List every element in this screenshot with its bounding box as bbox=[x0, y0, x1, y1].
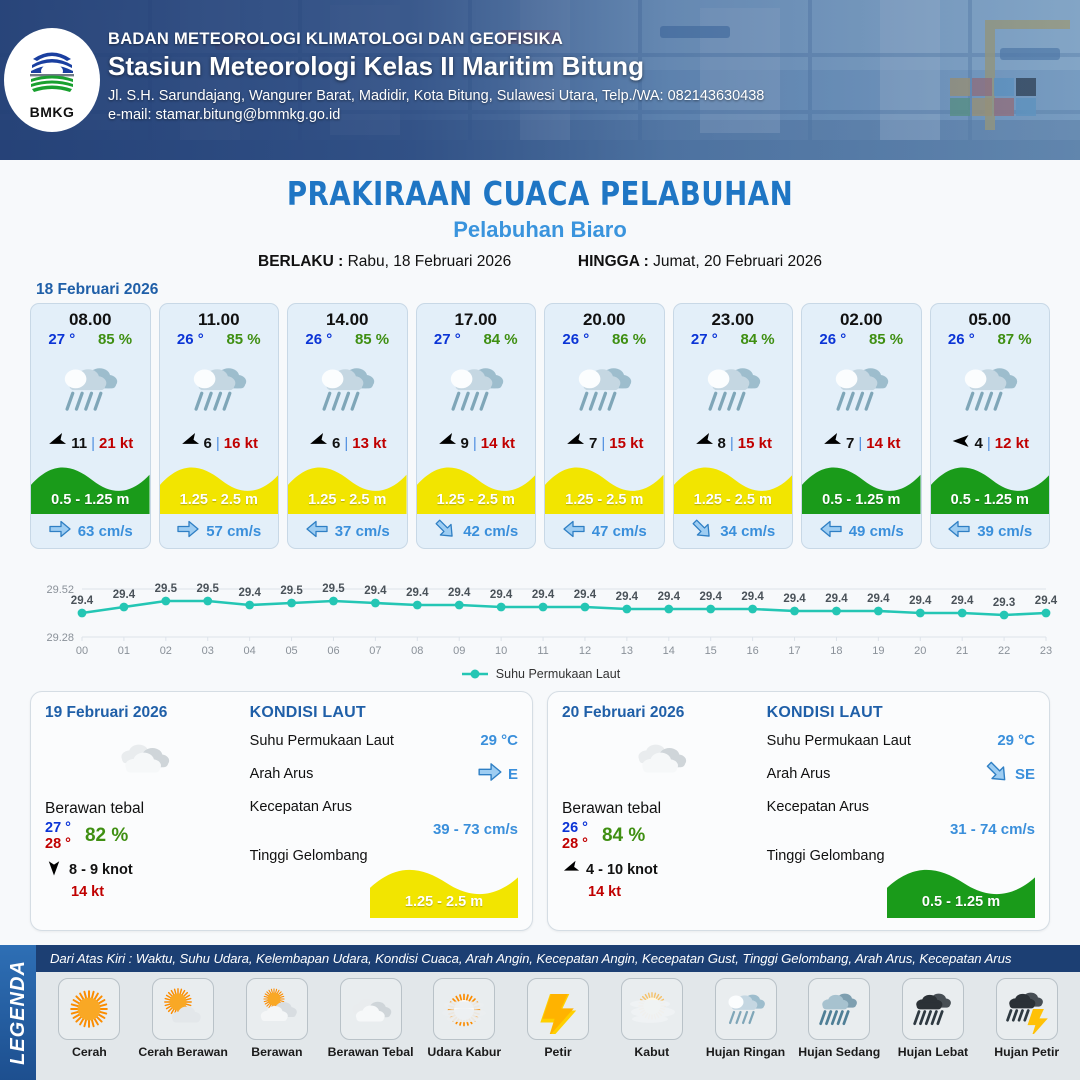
svg-text:29.4: 29.4 bbox=[616, 591, 639, 603]
svg-text:29.4: 29.4 bbox=[448, 587, 471, 599]
wind-gust: 21 kt bbox=[99, 435, 133, 452]
weather-condition-icon bbox=[31, 350, 150, 428]
forecast-date-label: 18 Februari 2026 bbox=[36, 281, 1080, 299]
legend-item-label: Hujan Ringan bbox=[706, 1045, 785, 1059]
sst-value: 29 °C bbox=[997, 732, 1035, 749]
port-name: Pelabuhan Biaro bbox=[0, 217, 1080, 243]
current-speed-value: 31 - 74 cm/s bbox=[767, 821, 1035, 838]
legend-section: LEGENDA Dari Atas Kiri : Waktu, Suhu Uda… bbox=[0, 945, 1080, 1080]
svg-text:29.4: 29.4 bbox=[825, 593, 848, 605]
weather-condition-icon bbox=[160, 350, 279, 428]
valid-until-value: Jumat, 20 Februari 2026 bbox=[653, 253, 822, 270]
legend-icon-hujan-petir bbox=[996, 978, 1058, 1040]
valid-from-value: Rabu, 18 Februari 2026 bbox=[348, 253, 512, 270]
card-temp-humidity: 26 ° 87 % bbox=[931, 331, 1050, 350]
legend-item: Berawan Tebal bbox=[325, 978, 416, 1078]
card-temperature: 27 ° bbox=[48, 331, 75, 348]
forecast-card: 05.00 26 ° 87 % 4 | 12 kt 0.5 - 1.25 m 3… bbox=[930, 303, 1051, 549]
wave-height: 0.5 - 1.25 m bbox=[931, 492, 1050, 508]
card-time: 23.00 bbox=[674, 304, 793, 331]
svg-text:29.4: 29.4 bbox=[1035, 595, 1058, 607]
card-temp-humidity: 26 ° 85 % bbox=[288, 331, 407, 350]
current-direction-label: Arah Arus bbox=[250, 766, 314, 782]
svg-text:29.4: 29.4 bbox=[406, 587, 429, 599]
card-wave: 1.25 - 2.5 m bbox=[160, 458, 279, 514]
card-humidity: 85 % bbox=[355, 331, 389, 348]
wind-separator: | bbox=[858, 435, 862, 452]
svg-text:15: 15 bbox=[705, 645, 717, 657]
current-direction-value: SE bbox=[1015, 766, 1035, 783]
card-temperature: 26 ° bbox=[305, 331, 332, 348]
day-wind: 4 - 10 knot bbox=[562, 859, 761, 881]
wind-separator: | bbox=[216, 435, 220, 452]
validity-row: BERLAKU : Rabu, 18 Februari 2026 HINGGA … bbox=[0, 253, 1080, 271]
day-humidity: 84 % bbox=[602, 825, 645, 847]
station-email: e-mail: stamar.bitung@bmmkg.go.id bbox=[108, 107, 764, 123]
card-wind: 4 | 12 kt bbox=[931, 428, 1050, 458]
legend-item: Hujan Petir bbox=[981, 978, 1072, 1078]
legend-icon-cerah-berawan bbox=[152, 978, 214, 1040]
sst-row: Suhu Permukaan Laut 29 °C bbox=[250, 732, 518, 749]
svg-text:29.5: 29.5 bbox=[197, 583, 220, 595]
current-speed: 37 cm/s bbox=[335, 523, 390, 540]
day-wind-gust: 14 kt bbox=[71, 884, 244, 900]
svg-text:29.4: 29.4 bbox=[71, 595, 94, 607]
current-direction-icon bbox=[819, 517, 843, 545]
svg-text:29.4: 29.4 bbox=[532, 589, 555, 601]
legend-item-label: Petir bbox=[544, 1045, 571, 1059]
card-temp-humidity: 27 ° 85 % bbox=[31, 331, 150, 350]
day-wind-direction-icon bbox=[562, 859, 580, 881]
card-humidity: 84 % bbox=[740, 331, 774, 348]
current-direction-row: Arah Arus SE bbox=[767, 759, 1035, 789]
legend-icon-hujan-ringan bbox=[715, 978, 777, 1040]
wind-speed: 7 bbox=[589, 435, 597, 452]
card-current: 39 cm/s bbox=[931, 514, 1050, 548]
current-speed: 34 cm/s bbox=[720, 523, 775, 540]
wind-separator: | bbox=[601, 435, 605, 452]
day-wave-band: 0.5 - 1.25 m bbox=[887, 860, 1035, 918]
day-wind-range: 8 - 9 knot bbox=[69, 862, 133, 878]
svg-text:29.4: 29.4 bbox=[951, 595, 974, 607]
day-temperatures: 27 ° 28 ° 82 % bbox=[45, 820, 244, 852]
wave-height-label: Tinggi Gelombang bbox=[767, 848, 885, 864]
svg-text:19: 19 bbox=[872, 645, 884, 657]
svg-text:02: 02 bbox=[160, 645, 172, 657]
wave-height: 1.25 - 2.5 m bbox=[160, 492, 279, 508]
wind-gust: 13 kt bbox=[352, 435, 386, 452]
card-time: 05.00 bbox=[931, 304, 1050, 331]
legend-item-label: Cerah Berawan bbox=[138, 1045, 228, 1059]
card-time: 20.00 bbox=[545, 304, 664, 331]
legend-icon-kabut bbox=[621, 978, 683, 1040]
card-wave: 0.5 - 1.25 m bbox=[931, 458, 1050, 514]
day-temp-max: 28 ° bbox=[45, 836, 71, 852]
wind-separator: | bbox=[344, 435, 348, 452]
card-current: 47 cm/s bbox=[545, 514, 664, 548]
svg-text:23: 23 bbox=[1040, 645, 1052, 657]
card-humidity: 85 % bbox=[226, 331, 260, 348]
card-humidity: 87 % bbox=[997, 331, 1031, 348]
current-speed: 49 cm/s bbox=[849, 523, 904, 540]
card-wave: 0.5 - 1.25 m bbox=[802, 458, 921, 514]
wave-height: 0.5 - 1.25 m bbox=[802, 492, 921, 508]
legend-side-bar: LEGENDA bbox=[0, 945, 36, 1080]
sst-label: Suhu Permukaan Laut bbox=[767, 733, 911, 749]
weather-condition-icon bbox=[931, 350, 1050, 428]
svg-text:29.4: 29.4 bbox=[658, 591, 681, 603]
svg-text:06: 06 bbox=[327, 645, 339, 657]
card-current: 63 cm/s bbox=[31, 514, 150, 548]
chart-legend-marker bbox=[460, 668, 490, 680]
legend-item: Hujan Sedang bbox=[794, 978, 885, 1078]
card-time: 14.00 bbox=[288, 304, 407, 331]
day-weather-icon bbox=[45, 726, 244, 788]
current-speed: 39 cm/s bbox=[977, 523, 1032, 540]
sst-chart: 29.5229.2829.429.429.529.529.429.529.529… bbox=[20, 563, 1060, 663]
wind-direction-icon bbox=[47, 431, 67, 455]
legend-item: Cerah Berawan bbox=[138, 978, 229, 1078]
svg-text:29.4: 29.4 bbox=[490, 589, 513, 601]
legend-item-label: Hujan Petir bbox=[994, 1045, 1059, 1059]
weather-condition-icon bbox=[802, 350, 921, 428]
sea-conditions: KONDISI LAUT Suhu Permukaan Laut 29 °C A… bbox=[244, 704, 518, 920]
wave-height: 1.25 - 2.5 m bbox=[417, 492, 536, 508]
svg-text:29.4: 29.4 bbox=[700, 591, 723, 603]
sst-value: 29 °C bbox=[480, 732, 518, 749]
card-humidity: 86 % bbox=[612, 331, 646, 348]
agency-name: BADAN METEOROLOGI KLIMATOLOGI DAN GEOFIS… bbox=[108, 30, 764, 49]
card-wind: 6 | 13 kt bbox=[288, 428, 407, 458]
legend-side-label: LEGENDA bbox=[7, 960, 30, 1065]
station-name: Stasiun Meteorologi Kelas II Maritim Bit… bbox=[108, 51, 764, 82]
wind-speed: 9 bbox=[461, 435, 469, 452]
wind-direction-icon bbox=[437, 431, 457, 455]
wave-height: 0.5 - 1.25 m bbox=[31, 492, 150, 508]
forecast-card: 11.00 26 ° 85 % 6 | 16 kt 1.25 - 2.5 m 5… bbox=[159, 303, 280, 549]
card-time: 02.00 bbox=[802, 304, 921, 331]
wave-height-label: Tinggi Gelombang bbox=[250, 848, 368, 864]
card-wave: 1.25 - 2.5 m bbox=[288, 458, 407, 514]
title-section: PRAKIRAAN CUACA PELABUHAN Pelabuhan Biar… bbox=[0, 160, 1080, 271]
current-direction-icon bbox=[305, 517, 329, 545]
card-current: 34 cm/s bbox=[674, 514, 793, 548]
valid-from-label: BERLAKU : bbox=[258, 253, 343, 270]
svg-text:29.4: 29.4 bbox=[238, 587, 261, 599]
legend-item-label: Kabut bbox=[634, 1045, 669, 1059]
day-wave-height: 0.5 - 1.25 m bbox=[887, 894, 1035, 910]
current-speed-label: Kecepatan Arus bbox=[767, 799, 869, 815]
day-summary: 19 Februari 2026 Berawan tebal 27 ° 28 °… bbox=[45, 704, 244, 920]
card-temp-humidity: 26 ° 86 % bbox=[545, 331, 664, 350]
card-wind: 6 | 16 kt bbox=[160, 428, 279, 458]
svg-text:11: 11 bbox=[537, 645, 548, 657]
legend-item-label: Berawan bbox=[251, 1045, 302, 1059]
current-direction-label: Arah Arus bbox=[767, 766, 831, 782]
card-temperature: 26 ° bbox=[948, 331, 975, 348]
wave-height: 1.25 - 2.5 m bbox=[288, 492, 407, 508]
svg-text:29.4: 29.4 bbox=[364, 585, 387, 597]
sst-label: Suhu Permukaan Laut bbox=[250, 733, 394, 749]
day-date: 19 Februari 2026 bbox=[45, 704, 244, 722]
legend-item-row: Cerah Cerah Berawan Berawan Berawan Teba… bbox=[36, 972, 1080, 1080]
svg-text:09: 09 bbox=[453, 645, 465, 657]
day-date: 20 Februari 2026 bbox=[562, 704, 761, 722]
legend-item: Cerah bbox=[44, 978, 135, 1078]
page-header: BMKG BADAN METEOROLOGI KLIMATOLOGI DAN G… bbox=[0, 0, 1080, 160]
wind-gust: 15 kt bbox=[609, 435, 643, 452]
card-temp-humidity: 27 ° 84 % bbox=[417, 331, 536, 350]
card-wind: 11 | 21 kt bbox=[31, 428, 150, 458]
current-speed: 63 cm/s bbox=[78, 523, 133, 540]
day-condition: Berawan tebal bbox=[562, 800, 761, 818]
legend-item-label: Hujan Sedang bbox=[798, 1045, 880, 1059]
legend-item: Hujan Lebat bbox=[888, 978, 979, 1078]
svg-text:29.4: 29.4 bbox=[741, 591, 764, 603]
wind-speed: 11 bbox=[71, 435, 87, 452]
card-temperature: 27 ° bbox=[434, 331, 461, 348]
svg-text:00: 00 bbox=[76, 645, 88, 657]
card-wind: 9 | 14 kt bbox=[417, 428, 536, 458]
sea-conditions-title: KONDISI LAUT bbox=[250, 704, 518, 722]
svg-text:13: 13 bbox=[621, 645, 633, 657]
day-humidity: 82 % bbox=[85, 825, 128, 847]
forecast-card: 08.00 27 ° 85 % 11 | 21 kt 0.5 - 1.25 m … bbox=[30, 303, 151, 549]
current-speed: 42 cm/s bbox=[463, 523, 518, 540]
station-address: Jl. S.H. Sarundajang, Wangurer Barat, Ma… bbox=[108, 88, 764, 104]
sea-conditions-title: KONDISI LAUT bbox=[767, 704, 1035, 722]
svg-text:03: 03 bbox=[202, 645, 214, 657]
wind-speed: 7 bbox=[846, 435, 854, 452]
legend-main: Dari Atas Kiri : Waktu, Suhu Udara, Kele… bbox=[36, 945, 1080, 1080]
card-wind: 7 | 15 kt bbox=[545, 428, 664, 458]
valid-until-label: HINGGA : bbox=[578, 253, 649, 270]
wind-speed: 8 bbox=[718, 435, 726, 452]
forecast-card: 17.00 27 ° 84 % 9 | 14 kt 1.25 - 2.5 m 4… bbox=[416, 303, 537, 549]
day-wind-gust: 14 kt bbox=[588, 884, 761, 900]
current-direction-icon bbox=[477, 759, 503, 789]
wind-speed: 4 bbox=[975, 435, 983, 452]
wind-direction-icon bbox=[822, 431, 842, 455]
wind-direction-icon bbox=[951, 431, 971, 455]
card-temperature: 26 ° bbox=[562, 331, 589, 348]
wind-separator: | bbox=[91, 435, 95, 452]
legend-icon-berawan bbox=[246, 978, 308, 1040]
current-direction-icon bbox=[562, 517, 586, 545]
day-weather-icon bbox=[562, 726, 761, 788]
card-temp-humidity: 26 ° 85 % bbox=[160, 331, 279, 350]
svg-text:18: 18 bbox=[830, 645, 842, 657]
day-wind: 8 - 9 knot bbox=[45, 859, 244, 881]
day-temp-min: 26 ° bbox=[562, 820, 588, 836]
card-wind: 8 | 15 kt bbox=[674, 428, 793, 458]
legend-icon-udara-kabur bbox=[433, 978, 495, 1040]
card-temperature: 26 ° bbox=[177, 331, 204, 348]
chart-legend: Suhu Permukaan Laut bbox=[0, 667, 1080, 681]
svg-text:10: 10 bbox=[495, 645, 507, 657]
card-current: 57 cm/s bbox=[160, 514, 279, 548]
svg-text:29.28: 29.28 bbox=[46, 632, 74, 644]
svg-text:17: 17 bbox=[788, 645, 800, 657]
current-direction-icon bbox=[176, 517, 200, 545]
wave-height: 1.25 - 2.5 m bbox=[674, 492, 793, 508]
daily-forecast-panel: 20 Februari 2026 Berawan tebal 26 ° 28 °… bbox=[547, 691, 1050, 931]
svg-text:22: 22 bbox=[998, 645, 1010, 657]
svg-text:07: 07 bbox=[369, 645, 381, 657]
current-speed-value: 39 - 73 cm/s bbox=[250, 821, 518, 838]
legend-item: Berawan bbox=[231, 978, 322, 1078]
svg-text:21: 21 bbox=[956, 645, 968, 657]
wind-direction-icon bbox=[308, 431, 328, 455]
wind-gust: 14 kt bbox=[866, 435, 900, 452]
current-direction-value: E bbox=[508, 766, 518, 783]
current-speed: 57 cm/s bbox=[206, 523, 261, 540]
legend-item: Petir bbox=[513, 978, 604, 1078]
legend-icon-berawan-tebal bbox=[340, 978, 402, 1040]
weather-condition-icon bbox=[288, 350, 407, 428]
weather-condition-icon bbox=[417, 350, 536, 428]
svg-text:20: 20 bbox=[914, 645, 926, 657]
day-wave-band: 1.25 - 2.5 m bbox=[370, 860, 518, 918]
svg-text:04: 04 bbox=[244, 645, 256, 657]
legend-item-label: Berawan Tebal bbox=[328, 1045, 414, 1059]
current-speed-label: Kecepatan Arus bbox=[250, 799, 352, 815]
svg-text:29.5: 29.5 bbox=[322, 583, 345, 595]
card-temperature: 26 ° bbox=[819, 331, 846, 348]
sst-row: Suhu Permukaan Laut 29 °C bbox=[767, 732, 1035, 749]
svg-text:29.5: 29.5 bbox=[280, 585, 303, 597]
legend-item: Hujan Ringan bbox=[700, 978, 791, 1078]
wind-separator: | bbox=[987, 435, 991, 452]
legend-item: Kabut bbox=[606, 978, 697, 1078]
chart-legend-label: Suhu Permukaan Laut bbox=[496, 667, 620, 681]
current-direction-icon bbox=[690, 517, 714, 545]
bmkg-logo-text: BMKG bbox=[30, 104, 75, 120]
card-wave: 1.25 - 2.5 m bbox=[545, 458, 664, 514]
svg-text:29.4: 29.4 bbox=[867, 593, 890, 605]
current-speed-row: Kecepatan Arus bbox=[250, 799, 518, 815]
wind-direction-icon bbox=[565, 431, 585, 455]
card-wave: 0.5 - 1.25 m bbox=[31, 458, 150, 514]
svg-text:29.3: 29.3 bbox=[993, 597, 1015, 609]
wind-gust: 12 kt bbox=[995, 435, 1029, 452]
current-direction-value-group: E bbox=[477, 759, 518, 789]
card-time: 17.00 bbox=[417, 304, 536, 331]
legend-item-label: Udara Kabur bbox=[427, 1045, 501, 1059]
wind-speed: 6 bbox=[332, 435, 340, 452]
svg-text:29.4: 29.4 bbox=[574, 589, 597, 601]
card-temperature: 27 ° bbox=[691, 331, 718, 348]
card-humidity: 84 % bbox=[483, 331, 517, 348]
day-wind-direction-icon bbox=[45, 859, 63, 881]
forecast-card: 23.00 27 ° 84 % 8 | 15 kt 1.25 - 2.5 m 3… bbox=[673, 303, 794, 549]
card-humidity: 85 % bbox=[869, 331, 903, 348]
day-temp-min: 27 ° bbox=[45, 820, 71, 836]
current-direction-value-group: SE bbox=[984, 759, 1035, 789]
daily-panels: 19 Februari 2026 Berawan tebal 27 ° 28 °… bbox=[0, 681, 1080, 931]
day-summary: 20 Februari 2026 Berawan tebal 26 ° 28 °… bbox=[562, 704, 761, 920]
forecast-card-row: 08.00 27 ° 85 % 11 | 21 kt 0.5 - 1.25 m … bbox=[0, 303, 1080, 549]
day-wave-height: 1.25 - 2.5 m bbox=[370, 894, 518, 910]
card-current: 37 cm/s bbox=[288, 514, 407, 548]
day-temp-max: 28 ° bbox=[562, 836, 588, 852]
svg-text:29.4: 29.4 bbox=[113, 589, 136, 601]
svg-text:29.4: 29.4 bbox=[783, 593, 806, 605]
weather-condition-icon bbox=[674, 350, 793, 428]
legend-item-label: Cerah bbox=[72, 1045, 107, 1059]
sea-conditions: KONDISI LAUT Suhu Permukaan Laut 29 °C A… bbox=[761, 704, 1035, 920]
wind-speed: 6 bbox=[204, 435, 212, 452]
svg-text:08: 08 bbox=[411, 645, 423, 657]
card-current: 42 cm/s bbox=[417, 514, 536, 548]
current-direction-icon bbox=[48, 517, 72, 545]
legend-icon-petir bbox=[527, 978, 589, 1040]
day-temperatures: 26 ° 28 ° 84 % bbox=[562, 820, 761, 852]
svg-text:05: 05 bbox=[285, 645, 297, 657]
wind-separator: | bbox=[730, 435, 734, 452]
forecast-card: 20.00 26 ° 86 % 7 | 15 kt 1.25 - 2.5 m 4… bbox=[544, 303, 665, 549]
wave-height: 1.25 - 2.5 m bbox=[545, 492, 664, 508]
legend-item: Udara Kabur bbox=[419, 978, 510, 1078]
svg-text:14: 14 bbox=[663, 645, 675, 657]
card-wind: 7 | 14 kt bbox=[802, 428, 921, 458]
legend-item-label: Hujan Lebat bbox=[898, 1045, 968, 1059]
card-current: 49 cm/s bbox=[802, 514, 921, 548]
header-text-block: BADAN METEOROLOGI KLIMATOLOGI DAN GEOFIS… bbox=[108, 30, 764, 123]
legend-icon-hujan-lebat bbox=[902, 978, 964, 1040]
current-direction-icon bbox=[947, 517, 971, 545]
daily-forecast-panel: 19 Februari 2026 Berawan tebal 27 ° 28 °… bbox=[30, 691, 533, 931]
current-direction-icon bbox=[984, 759, 1010, 789]
bmkg-logo: BMKG bbox=[4, 28, 100, 132]
current-speed: 47 cm/s bbox=[592, 523, 647, 540]
day-condition: Berawan tebal bbox=[45, 800, 244, 818]
day-wind-range: 4 - 10 knot bbox=[586, 862, 658, 878]
svg-text:29.4: 29.4 bbox=[909, 595, 932, 607]
wind-gust: 15 kt bbox=[738, 435, 772, 452]
wind-gust: 14 kt bbox=[481, 435, 515, 452]
svg-text:01: 01 bbox=[118, 645, 130, 657]
card-time: 11.00 bbox=[160, 304, 279, 331]
bmkg-logo-mark bbox=[21, 41, 83, 103]
card-time: 08.00 bbox=[31, 304, 150, 331]
card-temp-humidity: 27 ° 84 % bbox=[674, 331, 793, 350]
wind-gust: 16 kt bbox=[224, 435, 258, 452]
card-humidity: 85 % bbox=[98, 331, 132, 348]
current-direction-row: Arah Arus E bbox=[250, 759, 518, 789]
card-wave: 1.25 - 2.5 m bbox=[674, 458, 793, 514]
svg-text:29.5: 29.5 bbox=[155, 583, 178, 595]
forecast-card: 02.00 26 ° 85 % 7 | 14 kt 0.5 - 1.25 m 4… bbox=[801, 303, 922, 549]
legend-icon-hujan-sedang bbox=[808, 978, 870, 1040]
weather-condition-icon bbox=[545, 350, 664, 428]
card-wave: 1.25 - 2.5 m bbox=[417, 458, 536, 514]
svg-text:12: 12 bbox=[579, 645, 591, 657]
wind-direction-icon bbox=[694, 431, 714, 455]
svg-text:16: 16 bbox=[746, 645, 758, 657]
current-speed-row: Kecepatan Arus bbox=[767, 799, 1035, 815]
wind-direction-icon bbox=[180, 431, 200, 455]
card-temp-humidity: 26 ° 85 % bbox=[802, 331, 921, 350]
legend-note: Dari Atas Kiri : Waktu, Suhu Udara, Kele… bbox=[36, 945, 1080, 972]
legend-icon-cerah bbox=[58, 978, 120, 1040]
forecast-card: 14.00 26 ° 85 % 6 | 13 kt 1.25 - 2.5 m 3… bbox=[287, 303, 408, 549]
current-direction-icon bbox=[433, 517, 457, 545]
page-title: PRAKIRAAN CUACA PELABUHAN bbox=[38, 174, 1042, 213]
wind-separator: | bbox=[473, 435, 477, 452]
